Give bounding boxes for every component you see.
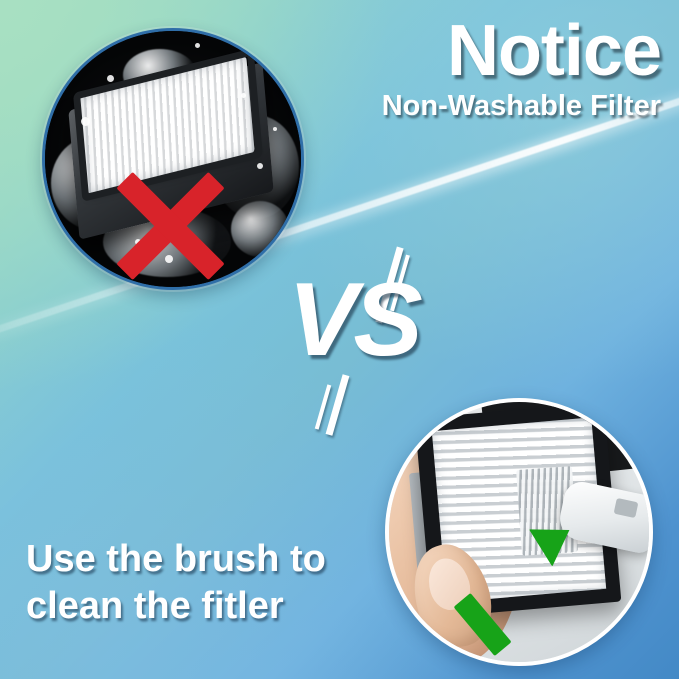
- water-droplet: [273, 127, 277, 131]
- green-check-icon: [447, 528, 595, 658]
- page-subtitle: Non-Washable Filter: [341, 91, 661, 123]
- versus-mark: VS: [288, 268, 458, 408]
- versus-bolt-lower-primary: [326, 374, 350, 436]
- water-droplet: [81, 117, 90, 126]
- caption-block: Use the brush to clean the fitler: [26, 536, 386, 629]
- panel-brush-clean-photo: [385, 398, 653, 666]
- water-droplet: [257, 163, 263, 169]
- page-title: Notice: [341, 16, 661, 87]
- water-splash-lower-right: [231, 201, 289, 257]
- headline-block: Notice Non-Washable Filter: [341, 16, 661, 122]
- versus-label: VS: [288, 268, 419, 372]
- infographic-canvas: Notice Non-Washable Filter VS: [0, 0, 679, 679]
- caption-line-one: Use the brush to: [26, 536, 386, 582]
- bad-photo-inner: [45, 31, 301, 287]
- water-droplet: [241, 93, 246, 98]
- good-photo-inner: [389, 402, 649, 662]
- water-droplet: [195, 43, 200, 48]
- caption-line-two: clean the fitler: [26, 583, 386, 629]
- panel-non-washable-photo: [42, 28, 304, 290]
- water-droplet: [107, 75, 114, 82]
- check-stroke-long: [507, 664, 601, 666]
- red-x-icon: [105, 161, 235, 290]
- check-stroke-short: [454, 593, 512, 656]
